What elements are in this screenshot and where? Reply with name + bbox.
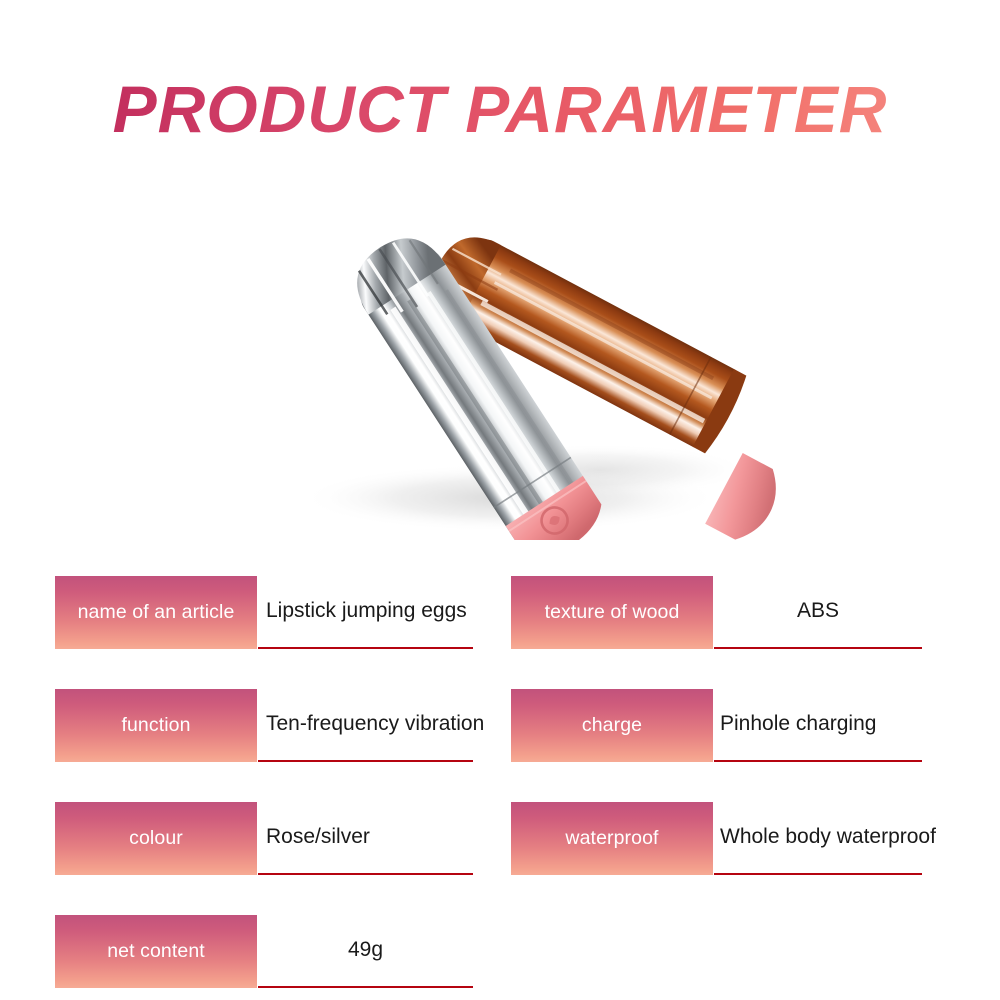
spec-value-colour: Rose/silver	[266, 825, 370, 849]
spec-row: waterproof Whole body waterproof	[511, 802, 922, 875]
spec-row: name of an article Lipstick jumping eggs	[55, 576, 475, 649]
spec-label-net-content: net content	[55, 915, 257, 988]
spec-value-cell: Whole body waterproof	[714, 802, 922, 875]
spec-row: charge Pinhole charging	[511, 689, 922, 762]
spec-value-cell: Rose/silver	[258, 802, 473, 875]
spec-value-cell: ABS	[714, 576, 922, 649]
spec-value-waterproof: Whole body waterproof	[720, 825, 936, 849]
spec-label-colour: colour	[55, 802, 257, 875]
spec-value-cell: 49g	[258, 915, 473, 988]
spec-value-cell: Ten-frequency vibration	[258, 689, 473, 762]
product-parameter-page: PRODUCT PARAMETER	[0, 0, 1000, 1000]
spec-label-charge: charge	[511, 689, 713, 762]
spec-value-function: Ten-frequency vibration	[266, 712, 484, 736]
spec-label-function: function	[55, 689, 257, 762]
spec-row: function Ten-frequency vibration	[55, 689, 475, 762]
spec-value-cell: Pinhole charging	[714, 689, 922, 762]
spec-table: name of an article Lipstick jumping eggs…	[0, 0, 1000, 1000]
spec-value-texture-of-wood: ABS	[797, 599, 839, 623]
spec-value-name-of-an-article: Lipstick jumping eggs	[266, 599, 467, 623]
spec-row: net content 49g	[55, 915, 475, 988]
spec-row: colour Rose/silver	[55, 802, 475, 875]
spec-label-texture-of-wood: texture of wood	[511, 576, 713, 649]
spec-row: texture of wood ABS	[511, 576, 922, 649]
spec-label-waterproof: waterproof	[511, 802, 713, 875]
spec-value-cell: Lipstick jumping eggs	[258, 576, 473, 649]
spec-value-charge: Pinhole charging	[720, 712, 876, 736]
spec-value-net-content: 49g	[348, 938, 383, 962]
spec-label-name-of-an-article: name of an article	[55, 576, 257, 649]
